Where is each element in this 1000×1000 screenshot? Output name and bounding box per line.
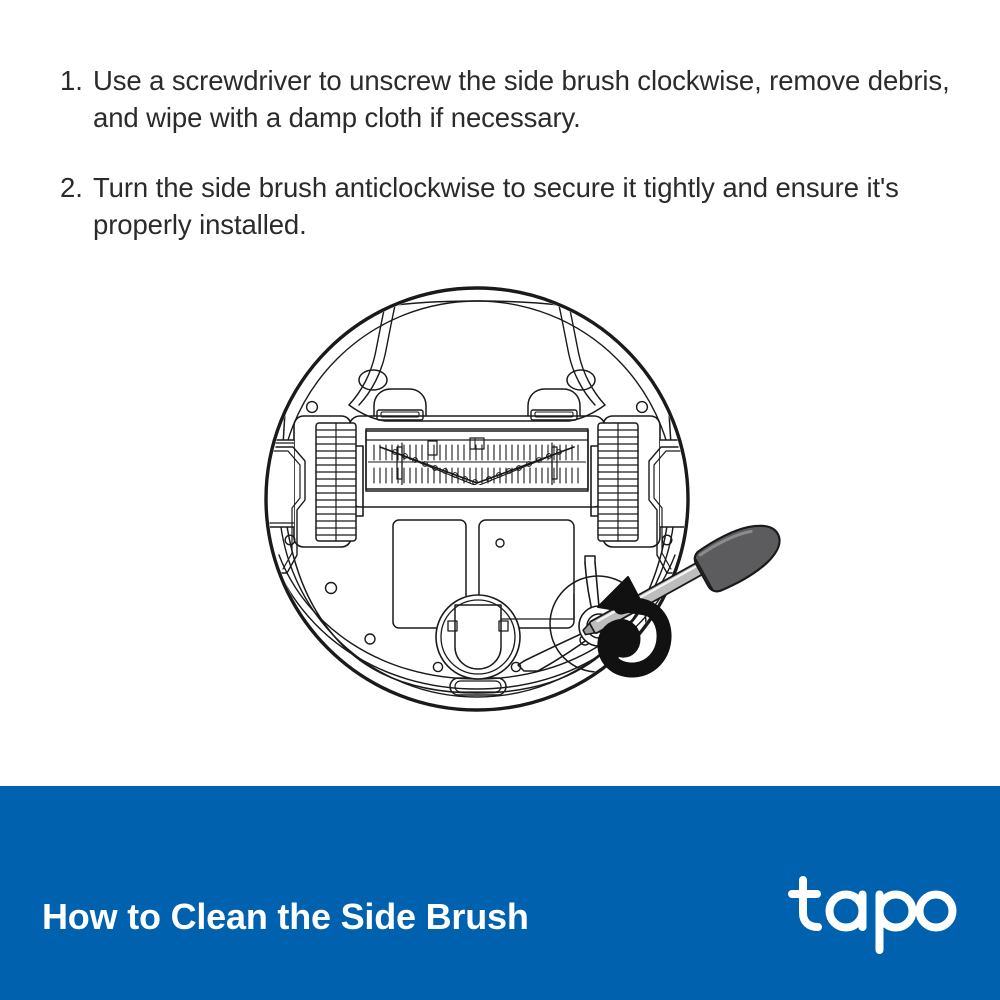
instructions-list: 1. Use a screwdriver to unscrew the side… [60,62,960,276]
step-number: 2. [60,169,93,206]
page-title: How to Clean the Side Brush [42,896,529,938]
tapo-logo-icon [788,870,958,956]
screwdriver-handle [691,513,789,596]
instruction-step: 2. Turn the side brush anticlockwise to … [60,169,960,243]
instruction-step: 1. Use a screwdriver to unscrew the side… [60,62,960,136]
step-text: Turn the side brush anticlockwise to sec… [93,169,960,243]
step-text: Use a screwdriver to unscrew the side br… [93,62,960,136]
robot-vacuum-illustration [0,255,1000,755]
robot-vacuum-underside-icon [0,255,1000,755]
step-number: 1. [60,62,93,99]
footer-bar: How to Clean the Side Brush [0,786,1000,1000]
